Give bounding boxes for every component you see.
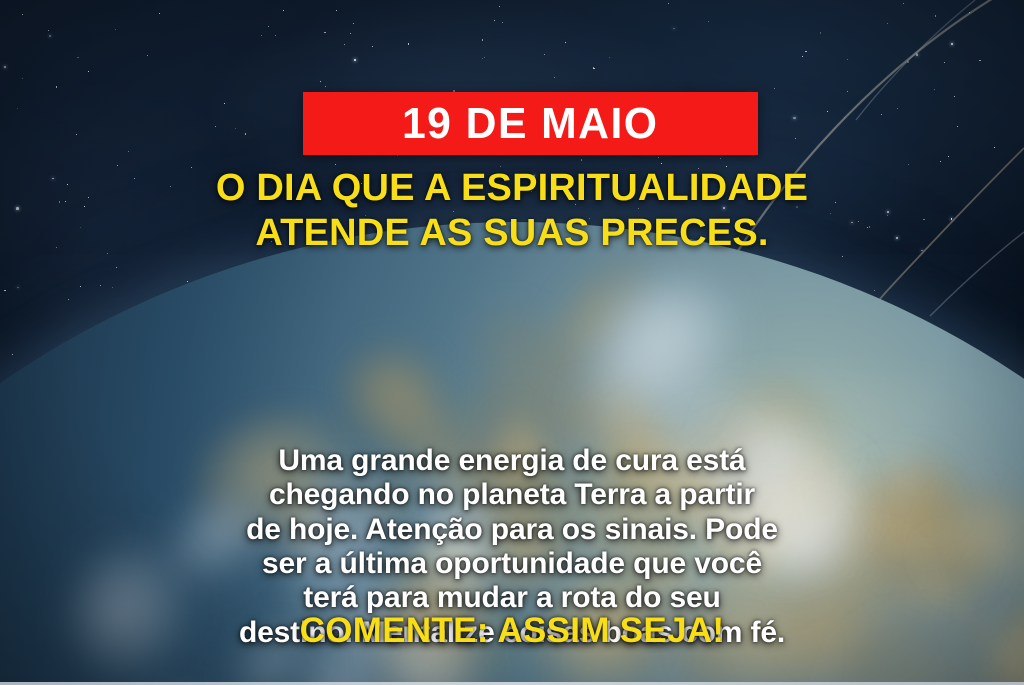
headline: O DIA QUE A ESPIRITUALIDADE ATENDE AS SU… bbox=[0, 166, 1024, 256]
body-copy-line-1: Uma grande energia de cura está bbox=[46, 444, 978, 478]
date-banner: 19 DE MAIO bbox=[303, 92, 758, 155]
body-copy-line-4: ser a última oportunidade que você bbox=[46, 547, 978, 581]
date-banner-text: 19 DE MAIO bbox=[402, 102, 658, 146]
poster-canvas: 19 DE MAIO O DIA QUE A ESPIRITUALIDADE A… bbox=[0, 0, 1024, 685]
body-copy-line-2: chegando no planeta Terra a partir bbox=[46, 478, 978, 512]
body-copy-line-3: de hoje. Atenção para os sinais. Pode bbox=[46, 513, 978, 547]
headline-line-2: ATENDE AS SUAS PRECES. bbox=[46, 211, 978, 256]
headline-line-1: O DIA QUE A ESPIRITUALIDADE bbox=[46, 166, 978, 211]
call-to-action-text: COMENTE: ASSIM SEJA! bbox=[0, 613, 1024, 648]
